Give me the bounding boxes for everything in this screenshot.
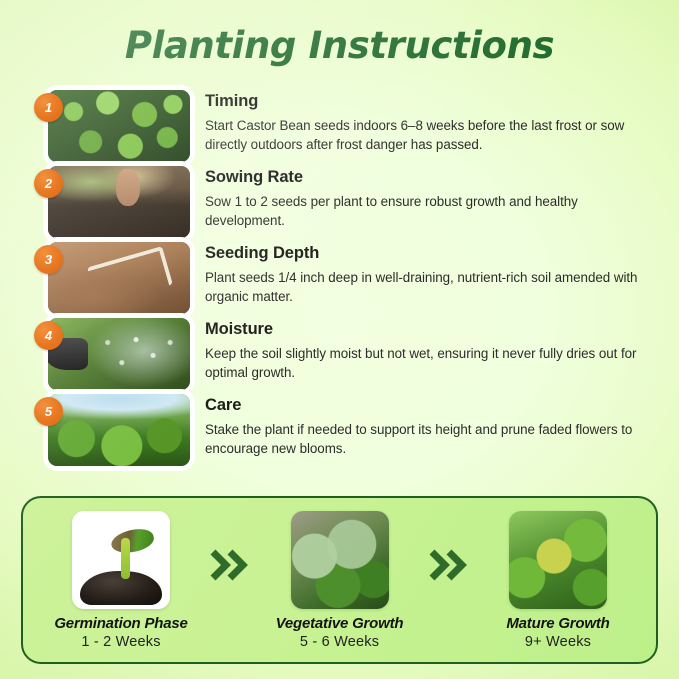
hand-sowing-seed-in-soil-photo	[48, 166, 190, 238]
seed-shape	[109, 526, 156, 556]
step-description: Sow 1 to 2 seeds per plant to ensure rob…	[205, 192, 645, 230]
timeline-phase-mature: Mature Growth 9+ Weeks	[474, 511, 642, 650]
step-title: Timing	[205, 92, 645, 111]
timeline-phase-vegetative: Vegetative Growth 5 - 6 Weeks	[256, 511, 424, 650]
step-thumbnail-wrap: 3	[34, 242, 190, 314]
page-title: Planting Instructions	[0, 24, 679, 67]
step-number-badge: 4	[34, 321, 63, 350]
timeline-phase-duration: 9+ Weeks	[474, 634, 642, 650]
step-thumbnail-wrap: 4	[34, 318, 190, 390]
timeline-phase-label: Mature Growth	[474, 615, 642, 632]
castor-bean-foliage-photo	[48, 90, 190, 162]
timeline-phase-image	[509, 511, 607, 609]
growth-timeline-card: Germination Phase 1 - 2 Weeks Vegetative…	[21, 496, 658, 664]
sprouting-seed-photo	[72, 511, 170, 609]
timeline-phase-duration: 5 - 6 Weeks	[256, 634, 424, 650]
step-text: Sowing Rate Sow 1 to 2 seeds per plant t…	[190, 166, 679, 230]
step-thumbnail-wrap: 1	[34, 90, 190, 162]
step-description: Plant seeds 1/4 inch deep in well-draini…	[205, 268, 645, 306]
step-number-badge: 3	[34, 245, 63, 274]
step-thumbnail	[48, 90, 190, 162]
step-title: Moisture	[205, 320, 645, 339]
hose-watering-plants-photo	[48, 318, 190, 390]
step-description: Keep the soil slightly moist but not wet…	[205, 344, 645, 382]
step-text: Timing Start Castor Bean seeds indoors 6…	[190, 90, 679, 154]
step-thumbnail	[48, 394, 190, 466]
step-item: 2 Sowing Rate Sow 1 to 2 seeds per plant…	[0, 166, 679, 238]
step-item: 1 Timing Start Castor Bean seeds indoors…	[0, 90, 679, 162]
step-thumbnail-wrap: 2	[34, 166, 190, 238]
step-description: Start Castor Bean seeds indoors 6–8 week…	[205, 116, 645, 154]
step-thumbnail	[48, 318, 190, 390]
timeline-phase-duration: 1 - 2 Weeks	[37, 634, 205, 650]
step-item: 5 Care Stake the plant if needed to supp…	[0, 394, 679, 466]
step-number-badge: 1	[34, 93, 63, 122]
step-number-badge: 2	[34, 169, 63, 198]
planting-instructions-infographic: Planting Instructions 1 Timing Start Cas…	[0, 0, 679, 679]
step-text: Moisture Keep the soil slightly moist bu…	[190, 318, 679, 382]
step-text: Seeding Depth Plant seeds 1/4 inch deep …	[190, 242, 679, 306]
step-text: Care Stake the plant if needed to suppor…	[190, 394, 679, 458]
step-item: 4 Moisture Keep the soil slightly moist …	[0, 318, 679, 390]
step-title: Seeding Depth	[205, 244, 645, 263]
castor-bean-leaves-sky-photo	[48, 394, 190, 466]
step-description: Stake the plant if needed to support its…	[205, 420, 645, 458]
double-chevron-right-icon	[427, 548, 471, 582]
step-thumbnail-wrap: 5	[34, 394, 190, 466]
flowering-castor-plant-photo	[509, 511, 607, 609]
timeline-phase-image	[72, 511, 170, 609]
double-chevron-right-icon	[208, 548, 252, 582]
step-thumbnail	[48, 242, 190, 314]
timeline-phase-label: Germination Phase	[37, 615, 205, 632]
step-thumbnail	[48, 166, 190, 238]
timeline-phase-image	[291, 511, 389, 609]
timeline-phase-germination: Germination Phase 1 - 2 Weeks	[37, 511, 205, 650]
timeline-phase-label: Vegetative Growth	[256, 615, 424, 632]
rake-in-soil-photo	[48, 242, 190, 314]
step-item: 3 Seeding Depth Plant seeds 1/4 inch dee…	[0, 242, 679, 314]
young-castor-plant-photo	[291, 511, 389, 609]
step-title: Sowing Rate	[205, 168, 645, 187]
steps-list: 1 Timing Start Castor Bean seeds indoors…	[0, 90, 679, 470]
step-number-badge: 5	[34, 397, 63, 426]
step-title: Care	[205, 396, 645, 415]
